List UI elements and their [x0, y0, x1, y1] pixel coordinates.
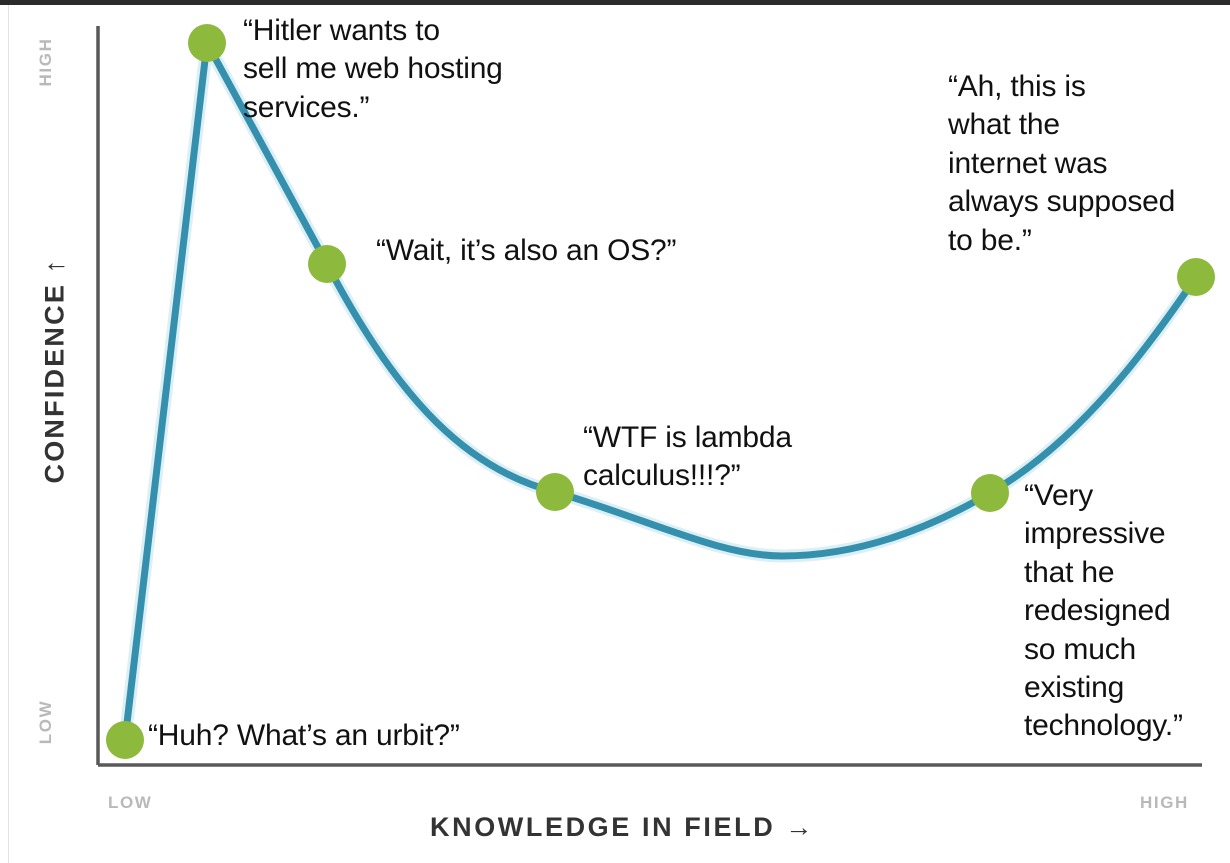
data-point-os	[308, 245, 346, 283]
y-axis-tick-high: HIGH	[36, 22, 56, 102]
meme-chart-canvas: CONFIDENCE ↑ KNOWLEDGE IN FIELD → HIGH L…	[0, 0, 1230, 863]
y-axis-tick-low: LOW	[36, 682, 56, 762]
data-point-peak	[188, 24, 226, 62]
annotation-lambda: “WTF is lambda calculus!!!?”	[583, 419, 913, 496]
annotation-internet: “Ah, this is what the internet was alway…	[948, 68, 1210, 260]
data-point-lambda	[536, 473, 574, 511]
annotation-very-impressive: “Very impressive that he redesigned so m…	[1024, 477, 1230, 746]
annotation-peak: “Hitler wants to sell me web hosting ser…	[243, 12, 573, 127]
data-point-urbit	[106, 721, 144, 759]
data-point-very	[971, 474, 1009, 512]
x-axis-title: KNOWLEDGE IN FIELD →	[430, 812, 815, 843]
y-axis-title: CONFIDENCE ↑	[40, 241, 71, 501]
annotation-urbit: “Huh? What’s an urbit?”	[148, 717, 548, 755]
x-axis-tick-low: LOW	[108, 793, 152, 813]
data-point-internet	[1177, 258, 1215, 296]
x-axis-tick-high: HIGH	[1140, 793, 1189, 813]
annotation-os: “Wait, it’s also an OS?”	[376, 232, 796, 270]
